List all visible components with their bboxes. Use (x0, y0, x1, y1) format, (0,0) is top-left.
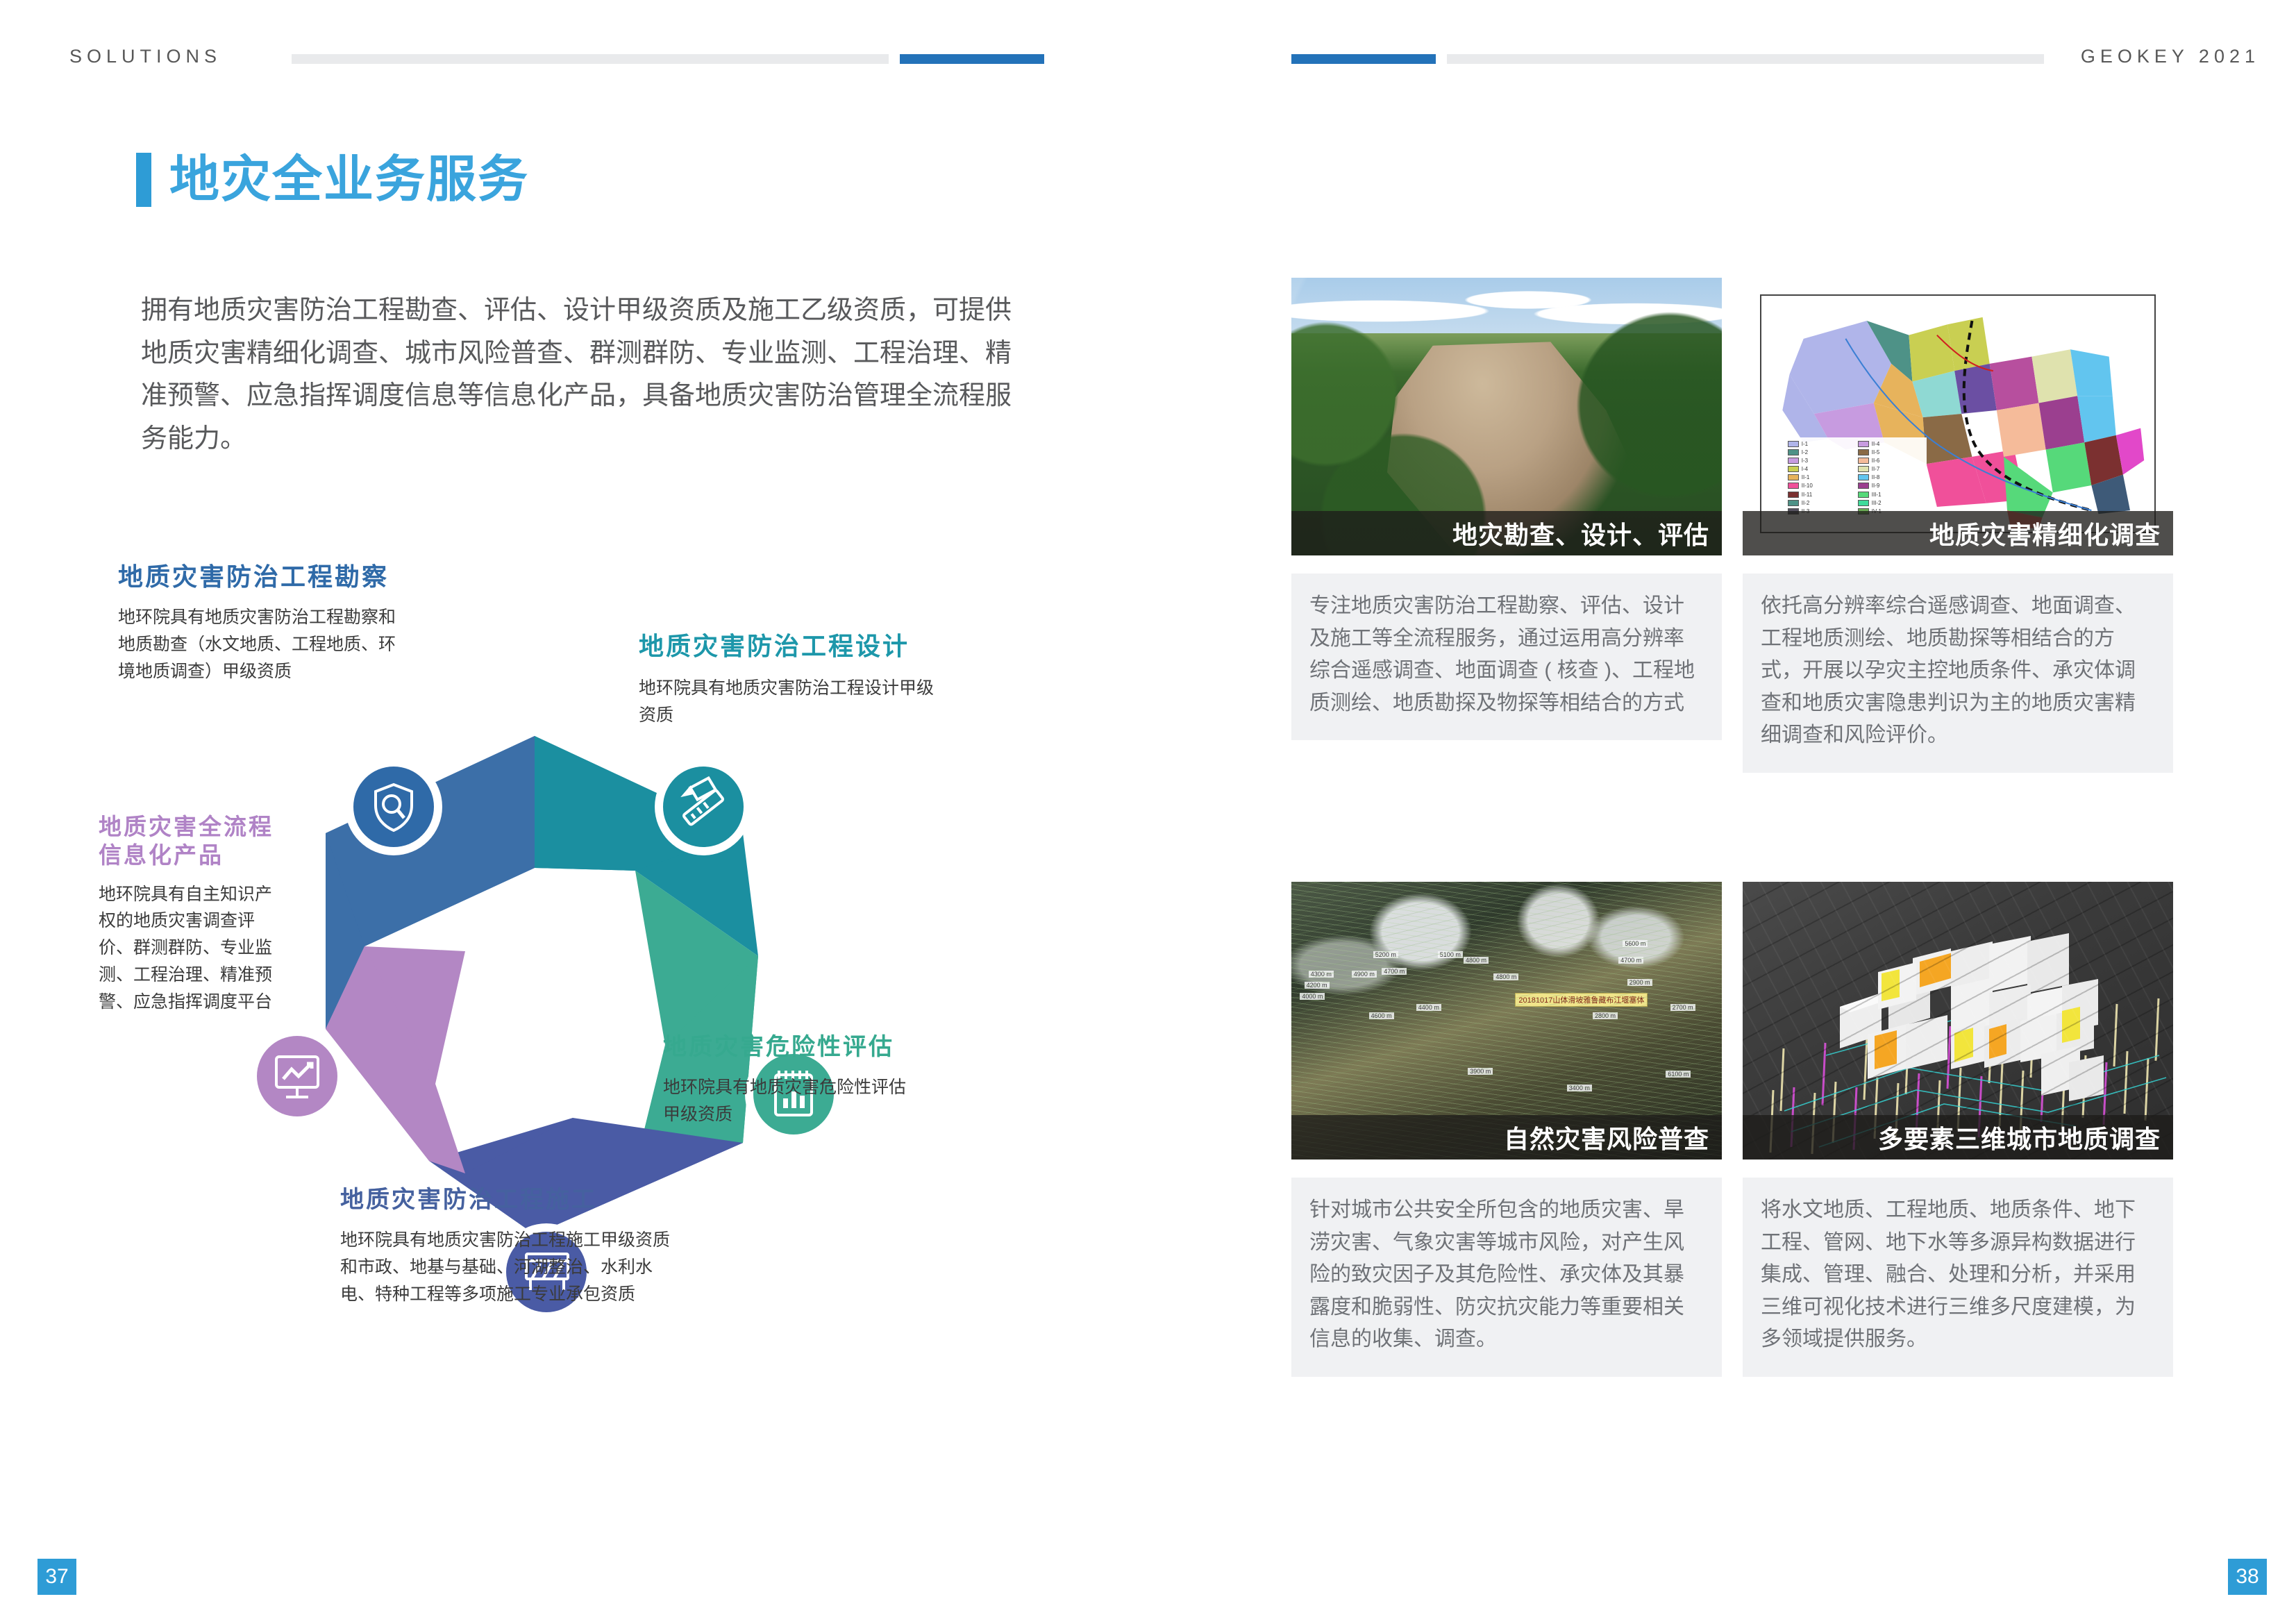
right-page: GEOKEY 2021 地灾勘查、设计、评估 专注地质灾害防治工程勘察、评估、设… (1148, 0, 2296, 1624)
left-page: SOLUTIONS 地灾全业务服务 拥有地质灾害防治工程勘查、评估、设计甲级资质… (0, 0, 1148, 1624)
left-header-rule-blue (900, 54, 1044, 64)
title-accent-bar (136, 153, 151, 207)
map-legend: I-1 II-4 I-2 II-5 I-3 II-6 I-4 II-7 II-1… (1785, 437, 1927, 518)
node-label-risk: 地质灾害危险性评估 地环院具有地质灾害危险性评估甲级资质 (663, 1028, 962, 1128)
icon-circle-design (655, 758, 752, 855)
right-header-rule-blue (1291, 54, 1436, 64)
card-natural-hazard-census[interactable]: 20181017山体滑坡雅鲁藏布江堰塞体 4300 m 4200 m 4000 … (1291, 882, 1722, 1377)
right-header-rule-grey (1447, 54, 2044, 64)
card-photo-aerial: 地灾勘查、设计、评估 (1291, 278, 1722, 555)
node-label-design: 地质灾害防治工程设计 地环院具有地质灾害防治工程设计甲级资质 (639, 626, 965, 729)
node-label-survey: 地质灾害防治工程勘察 地环院具有地质灾害防治工程勘察和地质勘查（水文地质、工程地… (118, 557, 437, 685)
page-title-block: 地灾全业务服务 (136, 153, 529, 207)
service-pinwheel-diagram: 地质灾害防治工程勘察 地环院具有地质灾害防治工程勘察和地质勘查（水文地质、工程地… (118, 562, 1062, 1389)
card-description: 依托高分辨率综合遥感调查、地面调查、工程地质测绘、地质勘探等相结合的方式，开展以… (1743, 574, 2173, 773)
page-number-right: 38 (2228, 1559, 2267, 1595)
card-survey-design-assess[interactable]: 地灾勘查、设计、评估 专注地质灾害防治工程勘察、评估、设计及施工等全流程服务，通… (1291, 278, 1722, 740)
card-3d-urban-geology[interactable]: 多要素三维城市地质调查 将水文地质、工程地质、地质条件、地下工程、管网、地下水等… (1743, 882, 2173, 1377)
card-description: 专注地质灾害防治工程勘察、评估、设计及施工等全流程服务，通过运用高分辨率综合遥感… (1291, 574, 1722, 740)
card-photo-terrain: 20181017山体滑坡雅鲁藏布江堰塞体 4300 m 4200 m 4000 … (1291, 882, 1722, 1160)
card-detailed-investigation[interactable]: I-1 II-4 I-2 II-5 I-3 II-6 I-4 II-7 II-1… (1743, 278, 2173, 773)
node-label-construction: 地质灾害防治工程施工 地环院具有地质灾害防治工程施工甲级资质和市政、地基与基础、… (340, 1180, 701, 1307)
card-caption-bar: 地灾勘查、设计、评估 (1291, 511, 1722, 555)
card-caption: 自然灾害风险普查 (1504, 1119, 1709, 1155)
map-frame: I-1 II-4 I-2 II-5 I-3 II-6 I-4 II-7 II-1… (1760, 294, 2156, 533)
card-caption-bar: 多要素三维城市地质调查 (1743, 1115, 2173, 1160)
card-description: 针对城市公共安全所包含的地质灾害、旱涝灾害、气象灾害等城市风险，对产生风险的致灾… (1291, 1178, 1722, 1377)
left-header-label: SOLUTIONS (69, 46, 221, 67)
card-caption-bar: 自然灾害风险普查 (1291, 1115, 1722, 1160)
brochure-spread: SOLUTIONS 地灾全业务服务 拥有地质灾害防治工程勘查、评估、设计甲级资质… (0, 0, 2296, 1624)
page-title: 地灾全业务服务 (169, 155, 529, 205)
terrain-event-label: 20181017山体滑坡雅鲁藏布江堰塞体 (1515, 993, 1648, 1007)
card-caption-bar: 地质灾害精细化调查 (1743, 511, 2173, 555)
card-description: 将水文地质、工程地质、地质条件、地下工程、管网、地下水等多源异构数据进行集成、管… (1743, 1178, 2173, 1377)
intro-paragraph: 拥有地质灾害防治工程勘查、评估、设计甲级资质及施工乙级资质，可提供地质灾害精细化… (141, 290, 1033, 460)
informatization-title-line2: 信息化产品 (99, 841, 328, 869)
node-label-informatization: 地质灾害全流程 信息化产品 地环院具有自主知识产权的地质灾害调查评价、群测群防、… (99, 812, 328, 1015)
right-header-label: GEOKEY 2021 (2081, 46, 2260, 67)
card-caption: 地灾勘查、设计、评估 (1452, 515, 1709, 551)
card-caption: 地质灾害精细化调查 (1929, 515, 2161, 551)
page-number-left: 37 (37, 1559, 76, 1595)
icon-circle-survey (345, 758, 442, 855)
sky-cloud-band (1291, 278, 1722, 333)
card-photo-map: I-1 II-4 I-2 II-5 I-3 II-6 I-4 II-7 II-1… (1743, 278, 2173, 555)
left-header-rule-grey (292, 54, 889, 64)
card-caption: 多要素三维城市地质调查 (1878, 1119, 2161, 1155)
card-photo-city: 多要素三维城市地质调查 (1743, 882, 2173, 1160)
informatization-title-line1: 地质灾害全流程 (99, 812, 328, 841)
